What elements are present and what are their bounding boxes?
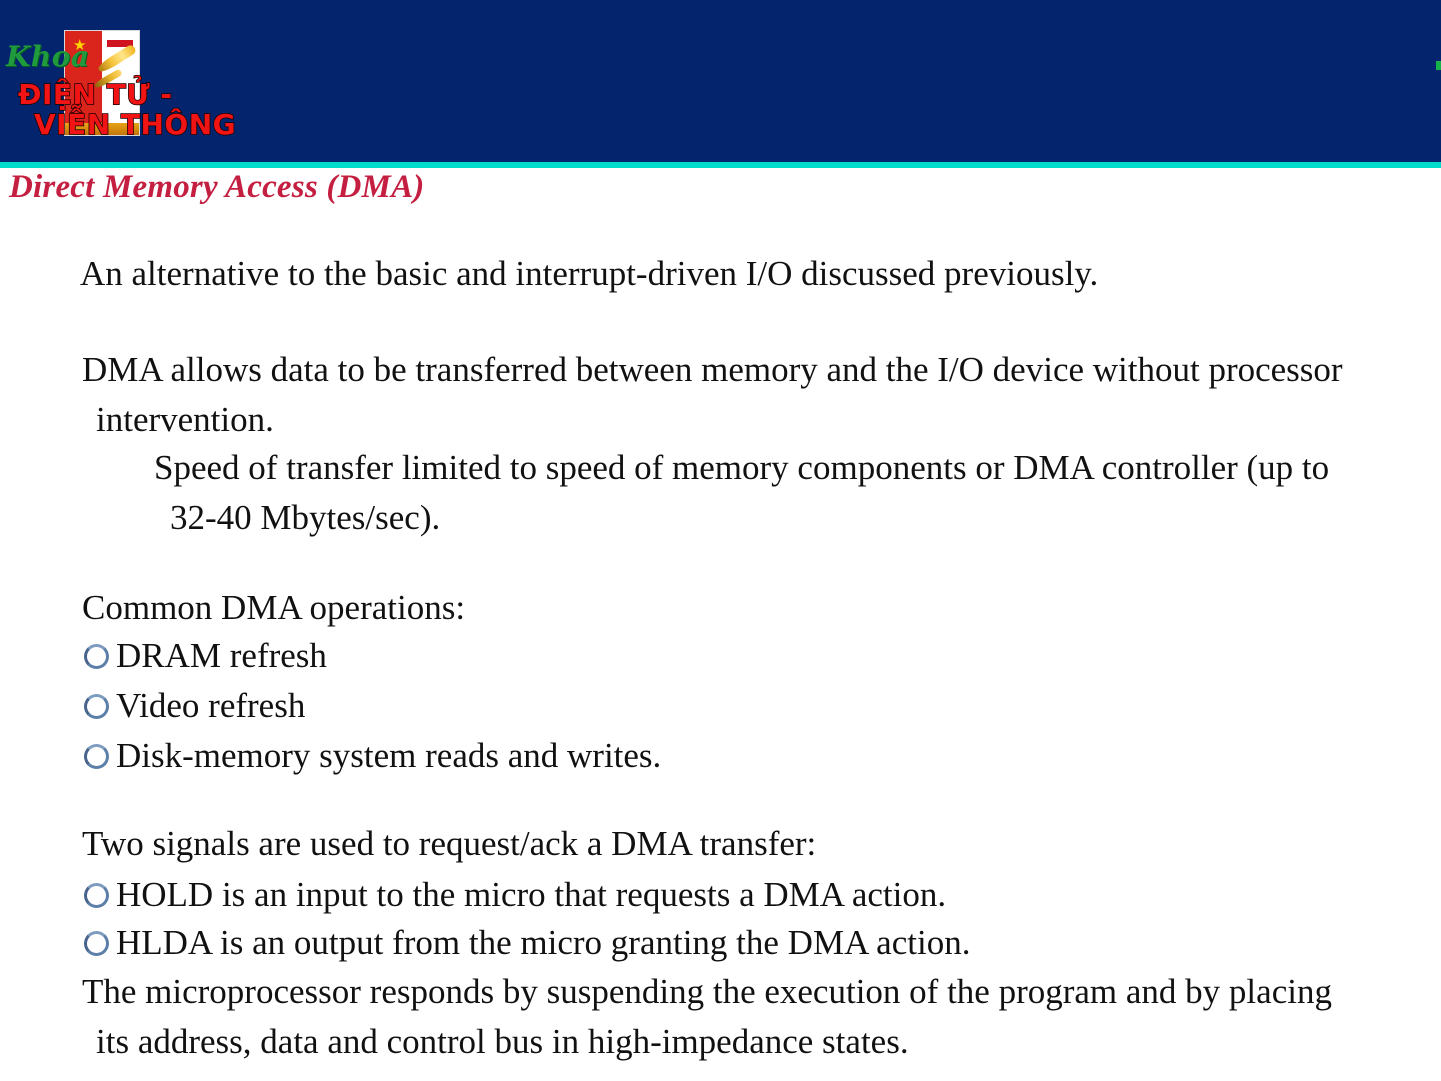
heading-two-signals: Two signals are used to request/ack a DM…	[82, 824, 816, 864]
circle-bullet-icon	[84, 931, 109, 956]
paragraph-speed-line-2: 32-40 Mbytes/sec).	[170, 498, 440, 538]
paragraph-speed-line-1: Speed of transfer limited to speed of me…	[154, 448, 1329, 488]
circle-bullet-icon	[84, 744, 109, 769]
list-item: Video refresh	[84, 686, 305, 726]
list-item: HLDA is an output from the micro grantin…	[84, 923, 970, 963]
edge-marker-icon	[1436, 61, 1441, 70]
paragraph-closing-line-2: its address, data and control bus in hig…	[96, 1022, 909, 1062]
list-item: DRAM refresh	[84, 636, 327, 676]
slide-title: Direct Memory Access (DMA)	[9, 169, 424, 205]
circle-bullet-icon	[84, 694, 109, 719]
paragraph-closing-line-1: The microprocessor responds by suspendin…	[82, 972, 1332, 1012]
presentation-slide: Khoa ĐIỆN TỬ - VIỄN THÔNG Direct Memory …	[0, 0, 1441, 1081]
list-item-label: HOLD is an input to the micro that reque…	[116, 875, 946, 915]
logo-text-line-2: VIỄN THÔNG	[34, 110, 236, 140]
heading-common-dma-operations: Common DMA operations:	[82, 588, 465, 628]
list-item: HOLD is an input to the micro that reque…	[84, 875, 946, 915]
list-item-label: Disk-memory system reads and writes.	[116, 736, 661, 776]
circle-bullet-icon	[84, 644, 109, 669]
paragraph-intro: An alternative to the basic and interrup…	[80, 254, 1098, 294]
paragraph-dma-line-2: intervention.	[96, 400, 274, 440]
header-accent-rule	[0, 162, 1441, 168]
list-item-label: DRAM refresh	[116, 636, 327, 676]
department-logo: Khoa ĐIỆN TỬ - VIỄN THÔNG	[4, 18, 180, 144]
list-item-label: HLDA is an output from the micro grantin…	[116, 923, 970, 963]
logo-text-line-1: ĐIỆN TỬ -	[18, 80, 173, 110]
list-item: Disk-memory system reads and writes.	[84, 736, 661, 776]
circle-bullet-icon	[84, 883, 109, 908]
paragraph-dma-line-1: DMA allows data to be transferred betwee…	[82, 350, 1343, 390]
list-item-label: Video refresh	[116, 686, 305, 726]
logo-script-word: Khoa	[6, 42, 90, 72]
